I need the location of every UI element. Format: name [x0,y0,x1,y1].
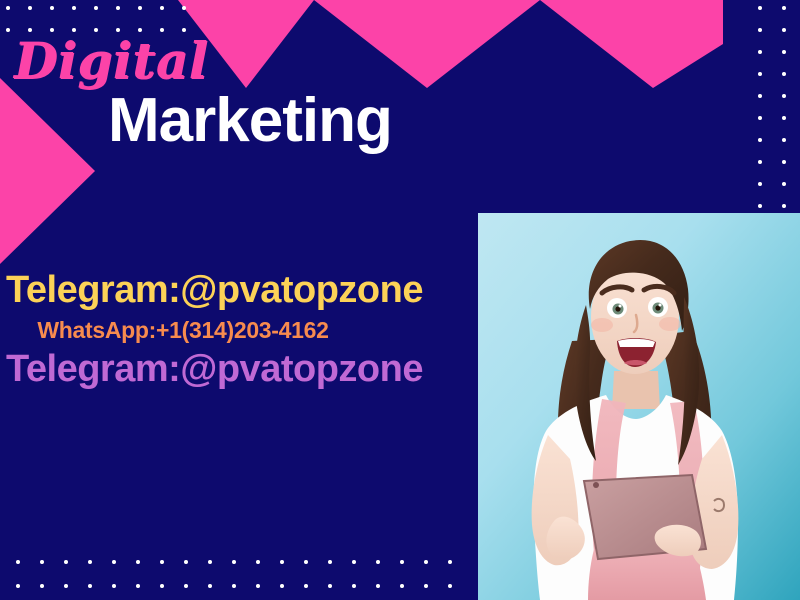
decor-dot [448,584,452,588]
dot-pattern-bottom-left [0,550,480,600]
person-illustration [478,213,800,600]
decor-dot [72,6,76,10]
decor-dot [400,560,404,564]
decor-dot [256,584,260,588]
decor-dot [352,560,356,564]
decor-dot [28,6,32,10]
decor-dot [64,560,68,564]
decor-dot [208,560,212,564]
digital-marketing-banner: Digital Marketing Telegram:@pvatopzone W… [0,0,800,600]
whatsapp-number: WhatsApp:+1(314)203-4162 [0,313,478,348]
decor-dot [160,584,164,588]
decor-dot [782,116,786,120]
decor-dot [758,116,762,120]
decor-dot [40,584,44,588]
headline-script-word: Digital [14,36,470,86]
decor-dot [116,6,120,10]
decor-dot [6,28,10,32]
decor-dot [758,28,762,32]
headline-block: Digital Marketing [0,36,470,153]
decor-dot [112,584,116,588]
decor-dot [376,584,380,588]
decor-dot [352,584,356,588]
decor-dot [758,160,762,164]
contact-block: Telegram:@pvatopzone WhatsApp:+1(314)203… [0,268,478,393]
telegram-handle-secondary: Telegram:@pvatopzone [0,347,478,393]
dot-pattern-right [752,0,800,215]
decor-dot [280,560,284,564]
decor-dot [782,182,786,186]
decor-dot [758,6,762,10]
decor-dot [424,584,428,588]
decor-dot [112,560,116,564]
person-photo [478,213,800,600]
decor-dot [782,6,786,10]
decor-dot [782,28,786,32]
decor-dot [782,160,786,164]
decor-dot [280,584,284,588]
decor-dot [6,6,10,10]
decor-dot [304,584,308,588]
decor-dot [758,138,762,142]
decor-dot [758,94,762,98]
decor-dot [64,584,68,588]
decor-dot [94,6,98,10]
decor-dot [782,94,786,98]
decor-dot [328,560,332,564]
decor-dot [40,560,44,564]
decor-dot [160,560,164,564]
decor-dot [758,204,762,208]
decor-dot [232,584,236,588]
decor-dot [50,6,54,10]
decor-dot [138,6,142,10]
decor-dot [16,560,20,564]
telegram-handle-primary: Telegram:@pvatopzone [0,268,478,313]
decor-dot [448,560,452,564]
decor-dot [758,72,762,76]
decor-dot [758,182,762,186]
decor-dot [376,560,380,564]
decor-dot [160,6,164,10]
headline-bold-word: Marketing [108,88,470,153]
decor-dot [400,584,404,588]
decor-dot [232,560,236,564]
decor-dot [184,560,188,564]
decor-dot [208,584,212,588]
decor-dot [304,560,308,564]
decor-dot [424,560,428,564]
decor-dot [758,50,762,54]
decor-dot [136,584,140,588]
decor-dot [88,560,92,564]
decor-dot [256,560,260,564]
decor-dot [16,584,20,588]
decor-dot [184,584,188,588]
decor-dot [782,72,786,76]
decor-dot [328,584,332,588]
decor-dot [782,50,786,54]
decor-dot [136,560,140,564]
decor-dot [88,584,92,588]
decor-dot [782,204,786,208]
decor-dot [782,138,786,142]
